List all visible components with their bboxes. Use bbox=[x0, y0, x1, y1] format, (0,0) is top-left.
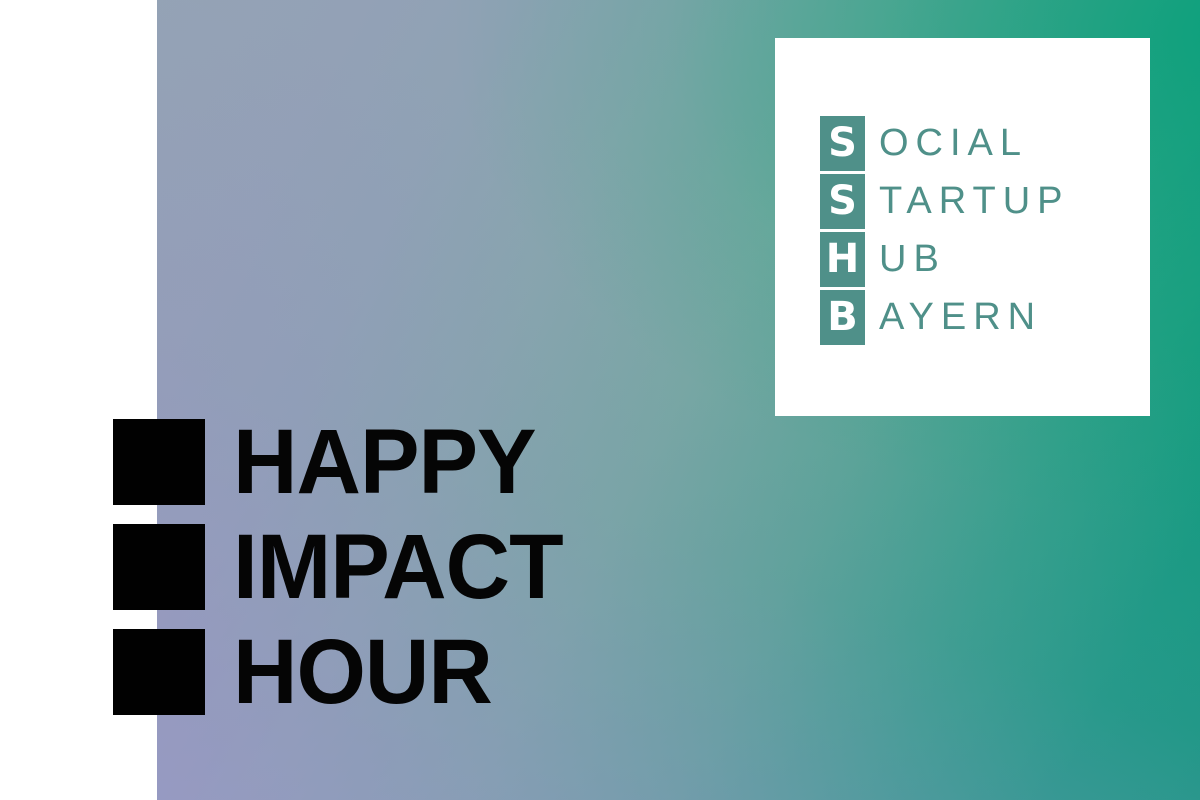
headline-line-hour: HOUR bbox=[113, 629, 733, 715]
headline-square-icon-3 bbox=[113, 629, 205, 715]
poster-canvas: S OCIAL S TARTUP H UB B AYERN HAPPY bbox=[0, 0, 1200, 800]
logo-row-social: S OCIAL bbox=[820, 114, 1070, 172]
sshb-logo-card: S OCIAL S TARTUP H UB B AYERN bbox=[775, 38, 1150, 416]
sshb-logo-rows: S OCIAL S TARTUP H UB B AYERN bbox=[820, 114, 1070, 346]
headline-square-icon-2 bbox=[113, 524, 205, 610]
headline-text-hour: HOUR bbox=[233, 629, 492, 715]
logo-row-startup: S TARTUP bbox=[820, 172, 1070, 230]
headline-text-happy: HAPPY bbox=[233, 419, 536, 505]
logo-word-startup: TARTUP bbox=[879, 174, 1070, 229]
logo-row-hub: H UB bbox=[820, 230, 1070, 288]
logo-word-hub: UB bbox=[879, 232, 946, 287]
headline-line-happy: HAPPY bbox=[113, 419, 733, 505]
headline-line-impact: IMPACT bbox=[113, 524, 733, 610]
logo-initial-block-b: B bbox=[820, 290, 865, 345]
headline-square-icon-1 bbox=[113, 419, 205, 505]
logo-word-bayern: AYERN bbox=[879, 290, 1042, 345]
logo-initial-block-s2: S bbox=[820, 174, 865, 229]
logo-initial-block-h: H bbox=[820, 232, 865, 287]
logo-row-bayern: B AYERN bbox=[820, 288, 1070, 346]
headline-text-impact: IMPACT bbox=[233, 524, 563, 610]
logo-word-social: OCIAL bbox=[879, 116, 1028, 171]
logo-initial-block-s1: S bbox=[820, 116, 865, 171]
headline-block: HAPPY IMPACT HOUR bbox=[113, 419, 733, 719]
